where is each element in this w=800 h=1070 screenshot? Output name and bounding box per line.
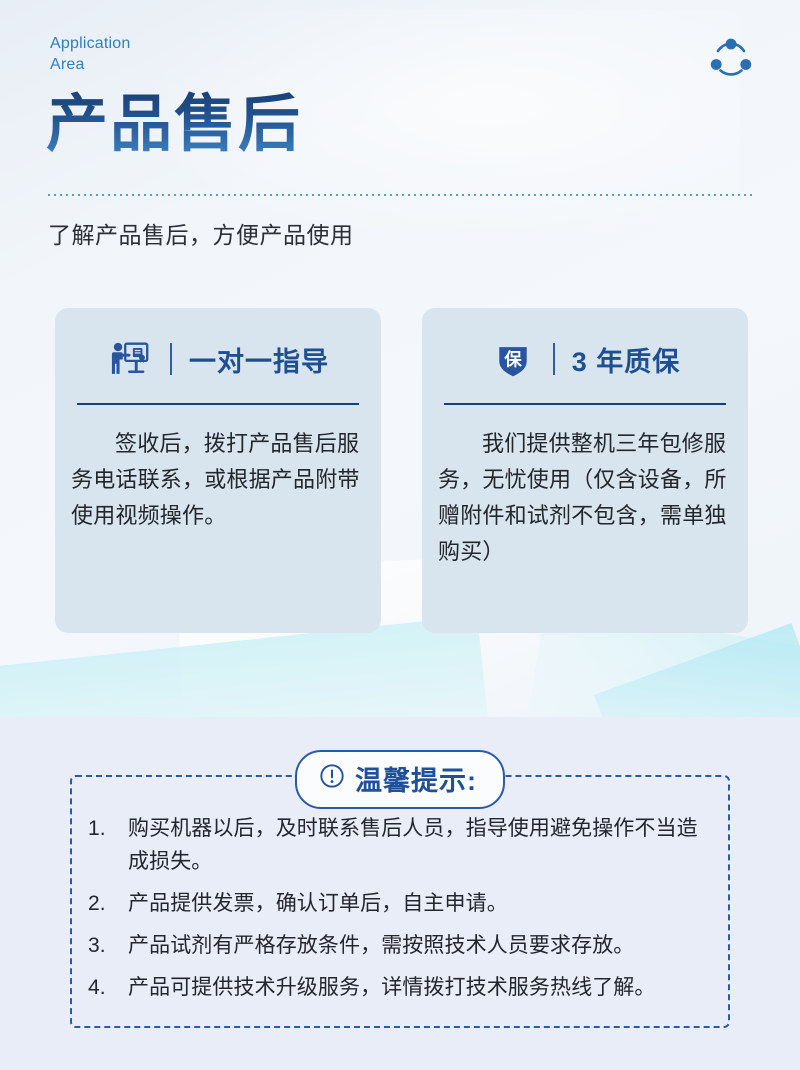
card-title: 一对一指导 (189, 340, 329, 379)
three-dot-circle-logo-icon (704, 33, 758, 87)
card-body-text: 我们提供整机三年包修服务，无忧使用（仅含设备，所赠附件和试剂不包含，需单独购买） (438, 426, 732, 570)
list-item: 2. 产品提供发票，确认订单后，自主申请。 (88, 887, 718, 920)
eyebrow-label: Application Area (50, 33, 230, 75)
list-item-text: 产品可提供技术升级服务，详情拨打技术服务热线了解。 (128, 976, 656, 999)
card-body-text: 签收后，拨打产品售后服务电话联系，或根据产品附带使用视频操作。 (71, 426, 365, 534)
card-header-separator (553, 343, 555, 375)
poster-page: Application Area 产品售后 了解产品售后，方便产品使用 (0, 0, 800, 1070)
card-header: 保 3 年质保 (422, 333, 748, 385)
tips-badge-label: 温馨提示: (355, 759, 477, 798)
list-item-number: 4. (88, 971, 122, 1004)
list-item: 1. 购买机器以后，及时联系售后人员，指导使用避免操作不当造成损失。 (88, 812, 718, 878)
header-divider (48, 194, 752, 196)
list-item-text: 产品试剂有严格存放条件，需按照技术人员要求存放。 (128, 934, 634, 957)
tips-badge: 温馨提示: (295, 750, 505, 809)
card-rule (444, 403, 726, 405)
card-header: 一对一指导 (55, 333, 381, 385)
list-item-text: 产品提供发票，确认订单后，自主申请。 (128, 892, 508, 915)
list-item-number: 1. (88, 812, 122, 845)
svg-text:保: 保 (503, 349, 522, 370)
list-item-number: 3. (88, 929, 122, 962)
page-title: 产品售后 (46, 88, 302, 160)
list-item: 3. 产品试剂有严格存放条件，需按照技术人员要求存放。 (88, 929, 718, 962)
page-subtitle: 了解产品售后，方便产品使用 (48, 218, 354, 252)
tips-list: 1. 购买机器以后，及时联系售后人员，指导使用避免操作不当造成损失。 2. 产品… (88, 812, 718, 1013)
exclamation-circle-icon (319, 763, 345, 794)
card-header-separator (170, 343, 172, 375)
eyebrow-line-1: Application (50, 35, 130, 52)
list-item: 4. 产品可提供技术升级服务，详情拨打技术服务热线了解。 (88, 971, 718, 1004)
list-item-text: 购买机器以后，及时联系售后人员，指导使用避免操作不当造成损失。 (128, 817, 698, 873)
card-title: 3 年质保 (572, 340, 681, 379)
card-one-on-one-guidance: 一对一指导 签收后，拨打产品售后服务电话联系，或根据产品附带使用视频操作。 (55, 308, 381, 633)
card-rule (77, 403, 359, 405)
shield-warranty-icon: 保 (490, 336, 536, 382)
presenter-board-icon (107, 336, 153, 382)
eyebrow-line-2: Area (50, 56, 85, 73)
list-item-number: 2. (88, 887, 122, 920)
card-three-year-warranty: 保 3 年质保 我们提供整机三年包修服务，无忧使用（仅含设备，所赠附件和试剂不包… (422, 308, 748, 633)
